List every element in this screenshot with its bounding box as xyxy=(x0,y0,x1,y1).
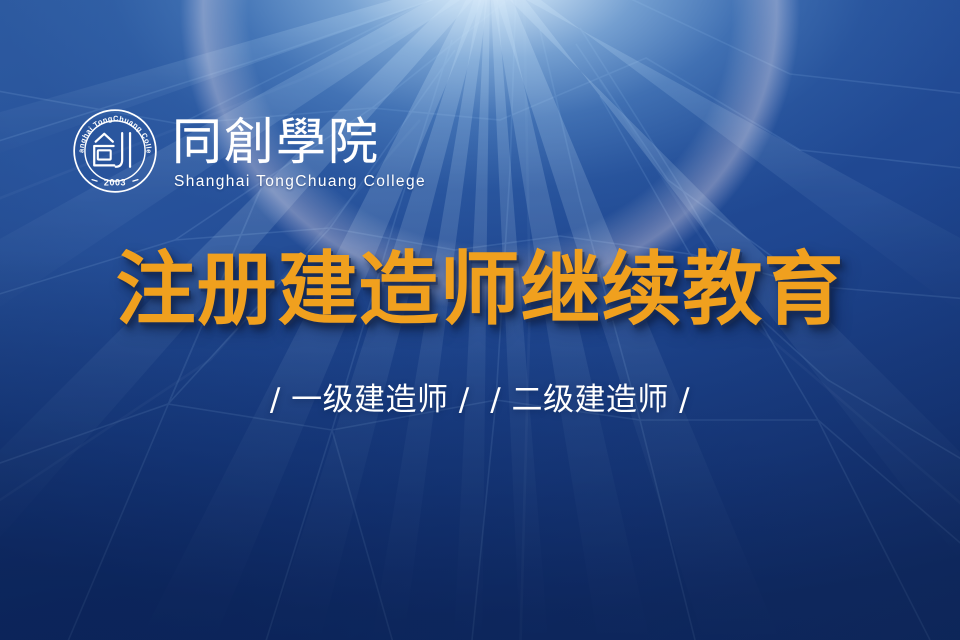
brand-logo-lockup[interactable]: Shanghai TongChuang College 2003 xyxy=(72,108,426,194)
page-title: 注册建造师继续教育 xyxy=(0,250,960,330)
brand-wordmark: 同創學院 Shanghai TongChuang College xyxy=(172,112,426,190)
brand-wordmark-cn-text: 同創學院 xyxy=(172,114,380,170)
brand-wordmark-cn: 同創學院 xyxy=(172,114,384,170)
svg-text:2003: 2003 xyxy=(104,177,126,187)
college-seal-icon: Shanghai TongChuang College 2003 xyxy=(72,108,158,194)
promo-banner: Shanghai TongChuang College 2003 xyxy=(0,0,960,640)
subtitle-qualifications: / 一级建造师 / / 二级建造师 / xyxy=(0,383,960,417)
banner-content: Shanghai TongChuang College 2003 xyxy=(0,0,960,640)
brand-wordmark-en: Shanghai TongChuang College xyxy=(174,174,426,190)
